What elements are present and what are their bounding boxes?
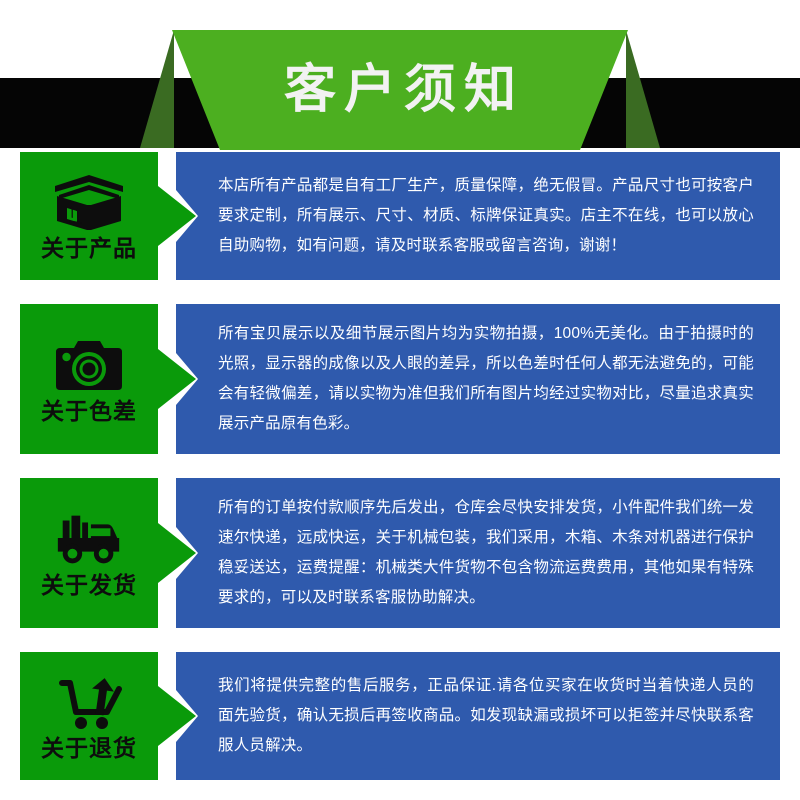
- delivery-truck-icon: [52, 510, 126, 570]
- notice-text-shipping: 所有的订单按付款顺序先后发出，仓库会尽快安排发货，小件配件我们统一发速尔快递，远…: [176, 493, 780, 614]
- notice-row-shipping: 关于发货 所有的订单按付款顺序先后发出，仓库会尽快安排发货，小件配件我们统一发速…: [0, 478, 800, 628]
- header-banner: 客户须知: [0, 0, 800, 152]
- notice-text-returns: 我们将提供完整的售后服务，正品保证.请各位买家在收货时当着快递人员的面先验货，确…: [176, 671, 780, 762]
- notice-row-color: 关于色差 所有宝贝展示以及细节展示图片均为实物拍摄，100%无美化。由于拍摄时的…: [0, 304, 800, 454]
- notice-panel-returns: 我们将提供完整的售后服务，正品保证.请各位买家在收货时当着快递人员的面先验货，确…: [176, 652, 780, 780]
- category-card-returns[interactable]: 关于退货: [20, 652, 158, 780]
- category-card-color[interactable]: 关于色差: [20, 304, 158, 454]
- notice-text-product: 本店所有产品都是自有工厂生产，质量保障，绝无假冒。产品尺寸也可按客户要求定制，所…: [176, 171, 780, 262]
- notice-panel-product: 本店所有产品都是自有工厂生产，质量保障，绝无假冒。产品尺寸也可按客户要求定制，所…: [176, 152, 780, 280]
- notice-row-product: 关于产品 本店所有产品都是自有工厂生产，质量保障，绝无假冒。产品尺寸也可按客户要…: [0, 152, 800, 280]
- notice-text-color: 所有宝贝展示以及细节展示图片均为实物拍摄，100%无美化。由于拍摄时的光照，显示…: [176, 319, 780, 440]
- notice-row-returns: 关于退货 我们将提供完整的售后服务，正品保证.请各位买家在收货时当着快递人员的面…: [0, 652, 800, 780]
- package-box-icon: [52, 173, 126, 233]
- return-cart-icon: [52, 673, 126, 733]
- camera-icon: [52, 336, 126, 396]
- notice-panel-shipping: 所有的订单按付款顺序先后发出，仓库会尽快安排发货，小件配件我们统一发速尔快递，远…: [176, 478, 780, 628]
- category-label-product: 关于产品: [41, 237, 137, 260]
- notice-panel-color: 所有宝贝展示以及细节展示图片均为实物拍摄，100%无美化。由于拍摄时的光照，显示…: [176, 304, 780, 454]
- category-label-color: 关于色差: [41, 400, 137, 423]
- notice-sections: 关于产品 本店所有产品都是自有工厂生产，质量保障，绝无假冒。产品尺寸也可按客户要…: [0, 152, 800, 780]
- category-card-product[interactable]: 关于产品: [20, 152, 158, 280]
- category-label-shipping: 关于发货: [41, 574, 137, 597]
- category-card-shipping[interactable]: 关于发货: [20, 478, 158, 628]
- page-title: 客户须知: [0, 30, 800, 150]
- category-label-returns: 关于退货: [41, 737, 137, 760]
